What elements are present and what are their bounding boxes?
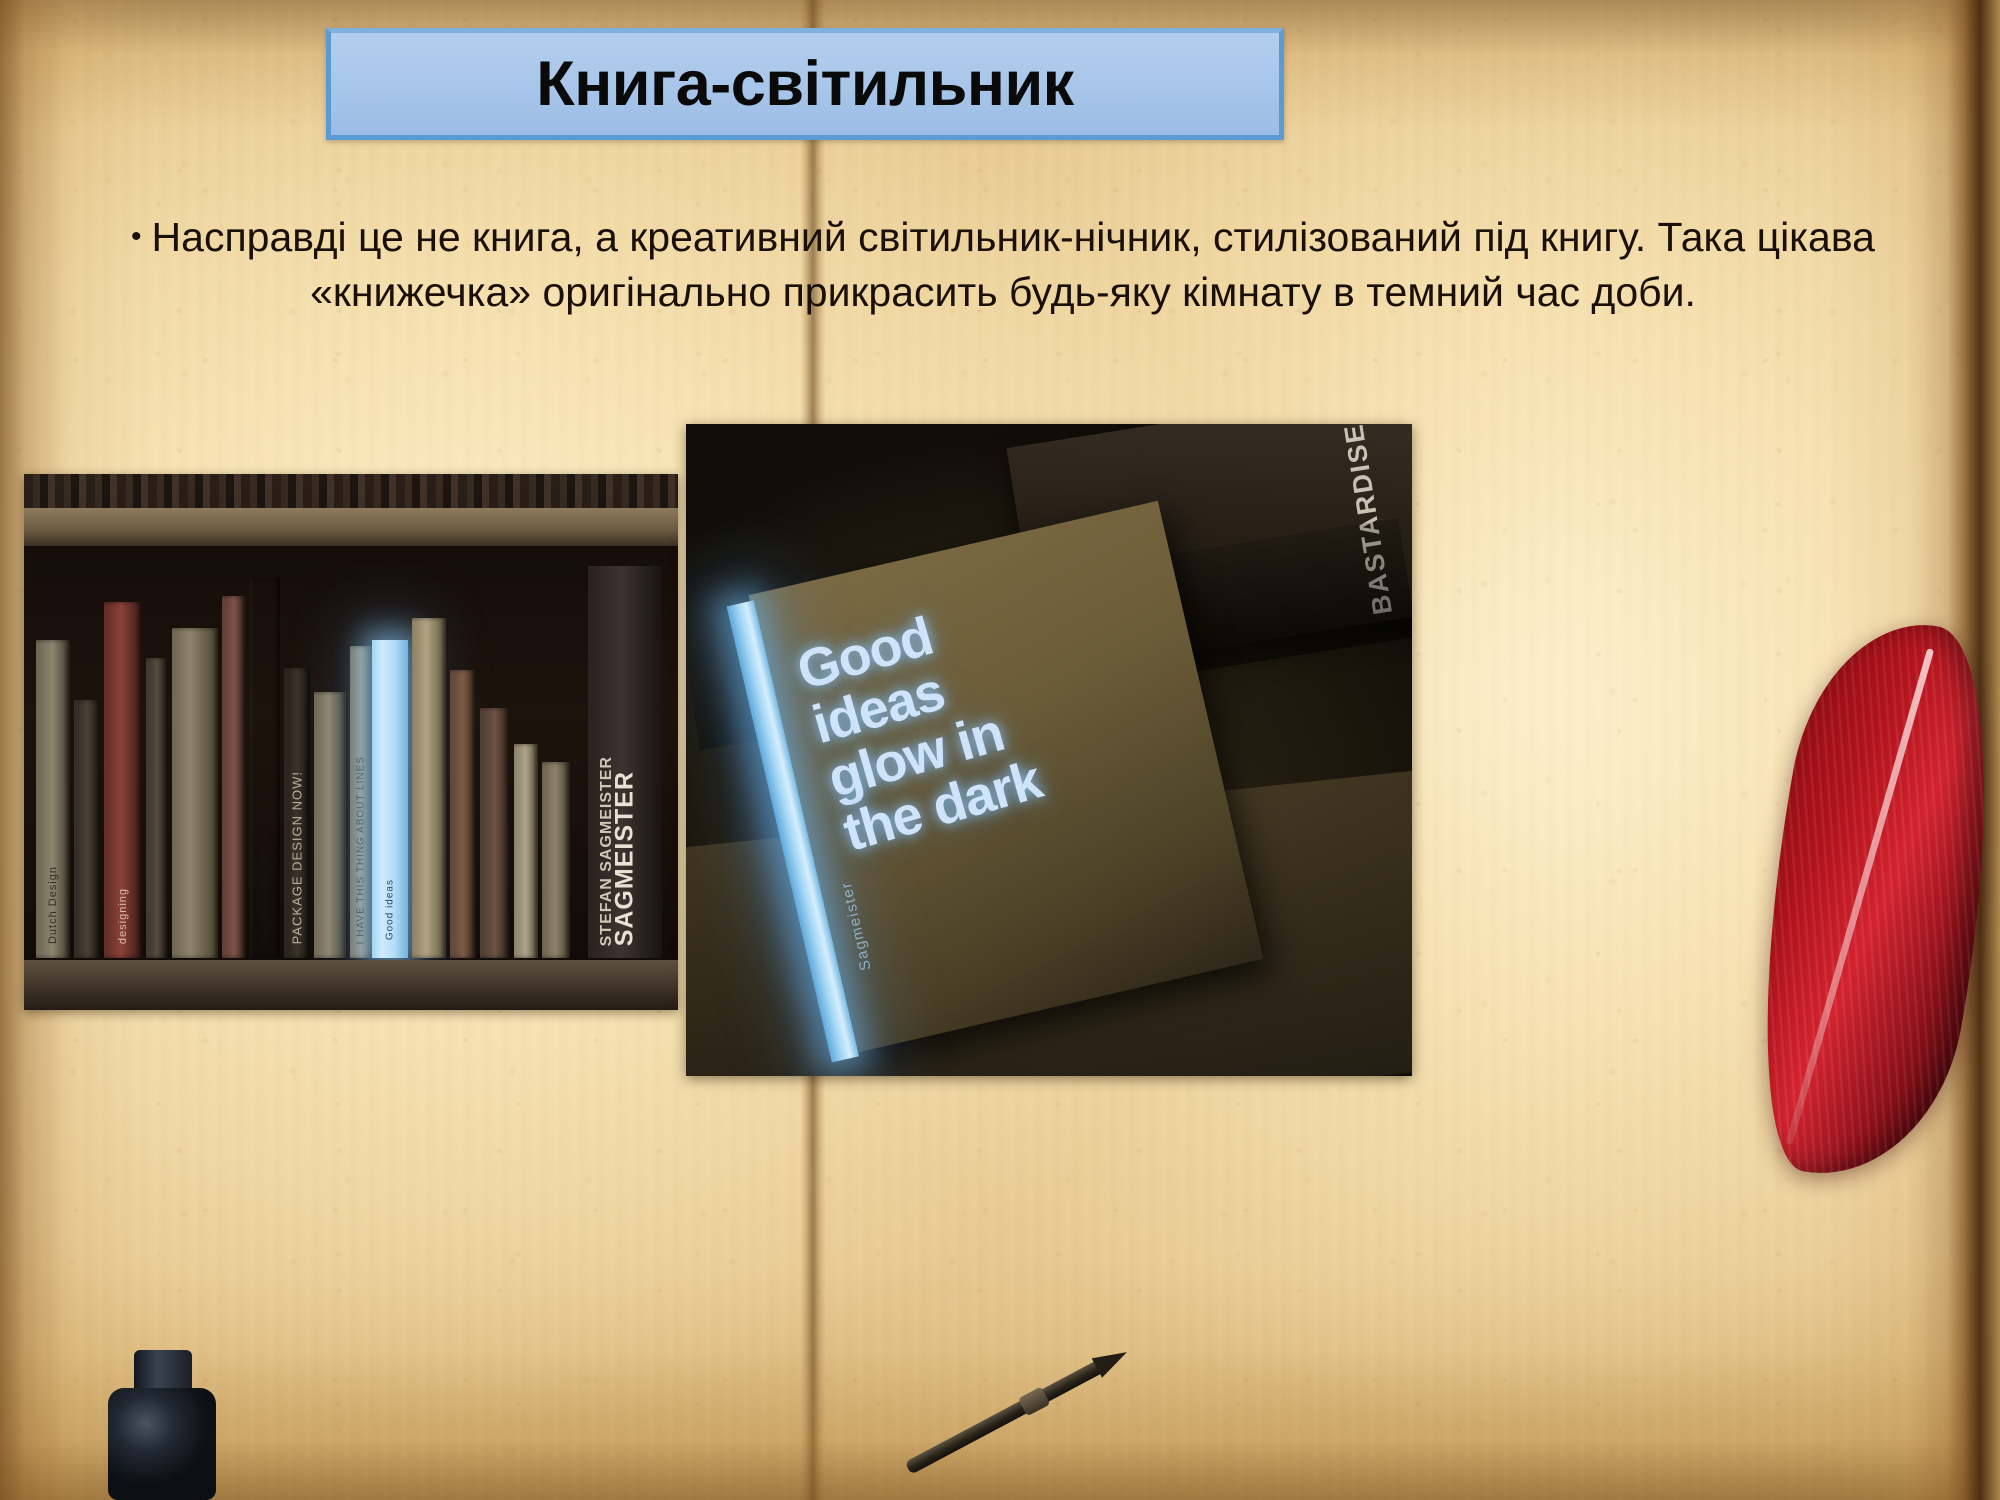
cover-text: Good ideas glow in the dark bbox=[791, 555, 1170, 862]
book-spine bbox=[542, 762, 570, 958]
bullet-paragraph: •Насправді це не книга, а креативний сві… bbox=[78, 210, 1928, 319]
sagmeister-author: STEFAN SAGMEISTER bbox=[598, 756, 616, 946]
book-spine: I HAVE THIS THING ABOUT LINES bbox=[350, 646, 372, 958]
bullet-marker: • bbox=[131, 220, 142, 253]
body-line-1: Насправді це не книга, а креативний світ… bbox=[152, 214, 1462, 260]
glowing-book-spine: Good ideas bbox=[372, 640, 408, 958]
book-spine-label: PACKAGE DESIGN NOW! bbox=[290, 771, 305, 944]
book-spine bbox=[450, 670, 476, 958]
book-spine bbox=[480, 708, 510, 958]
bookshelf-photo: Dutch Design designing PACKAGING BIBLE P… bbox=[24, 474, 678, 1010]
cover-author: Sagmeister bbox=[838, 880, 875, 972]
book-spine bbox=[74, 700, 100, 958]
title-banner: Книга-світильник bbox=[326, 28, 1284, 140]
inkwell-body bbox=[108, 1388, 216, 1500]
glowing-book-photo: BASTARDISED Good ideas glow in the dark … bbox=[686, 424, 1412, 1076]
book-spine-label: Dutch Design bbox=[47, 866, 59, 944]
shelf-plank bbox=[24, 508, 678, 546]
book-spine: designing bbox=[104, 602, 142, 958]
book-spine-label: I HAVE THIS THING ABOUT LINES bbox=[356, 756, 367, 944]
book-spine: Dutch Design bbox=[36, 640, 70, 958]
body-text-block: •Насправді це не книга, а креативний сві… bbox=[78, 210, 1928, 319]
shelf-bottom-plank bbox=[24, 960, 678, 1010]
book-spine bbox=[222, 596, 246, 958]
book-spine-label: designing bbox=[117, 888, 129, 944]
book-spine-label: PACKAGING BIBLE bbox=[259, 830, 271, 944]
book-spine bbox=[412, 618, 446, 958]
book-spine bbox=[514, 744, 538, 958]
book-spine bbox=[314, 692, 346, 958]
sagmeister-book: SAGMEISTER STEFAN SAGMEISTER bbox=[588, 566, 662, 958]
shelf-upper-books bbox=[24, 474, 678, 508]
page-title: Книга-світильник bbox=[536, 53, 1073, 116]
book-spine bbox=[146, 658, 168, 958]
inkwell-icon bbox=[108, 1350, 216, 1500]
book-spine: PACKAGE DESIGN NOW! bbox=[284, 668, 310, 958]
body-line-3: кімнату в темний час доби. bbox=[1182, 269, 1696, 315]
book-spine: PACKAGING BIBLE bbox=[250, 578, 280, 958]
book-spine bbox=[172, 628, 218, 958]
slide: Книга-світильник •Насправді це не книга,… bbox=[0, 0, 2000, 1500]
glowing-book-label: Good ideas bbox=[385, 879, 396, 940]
